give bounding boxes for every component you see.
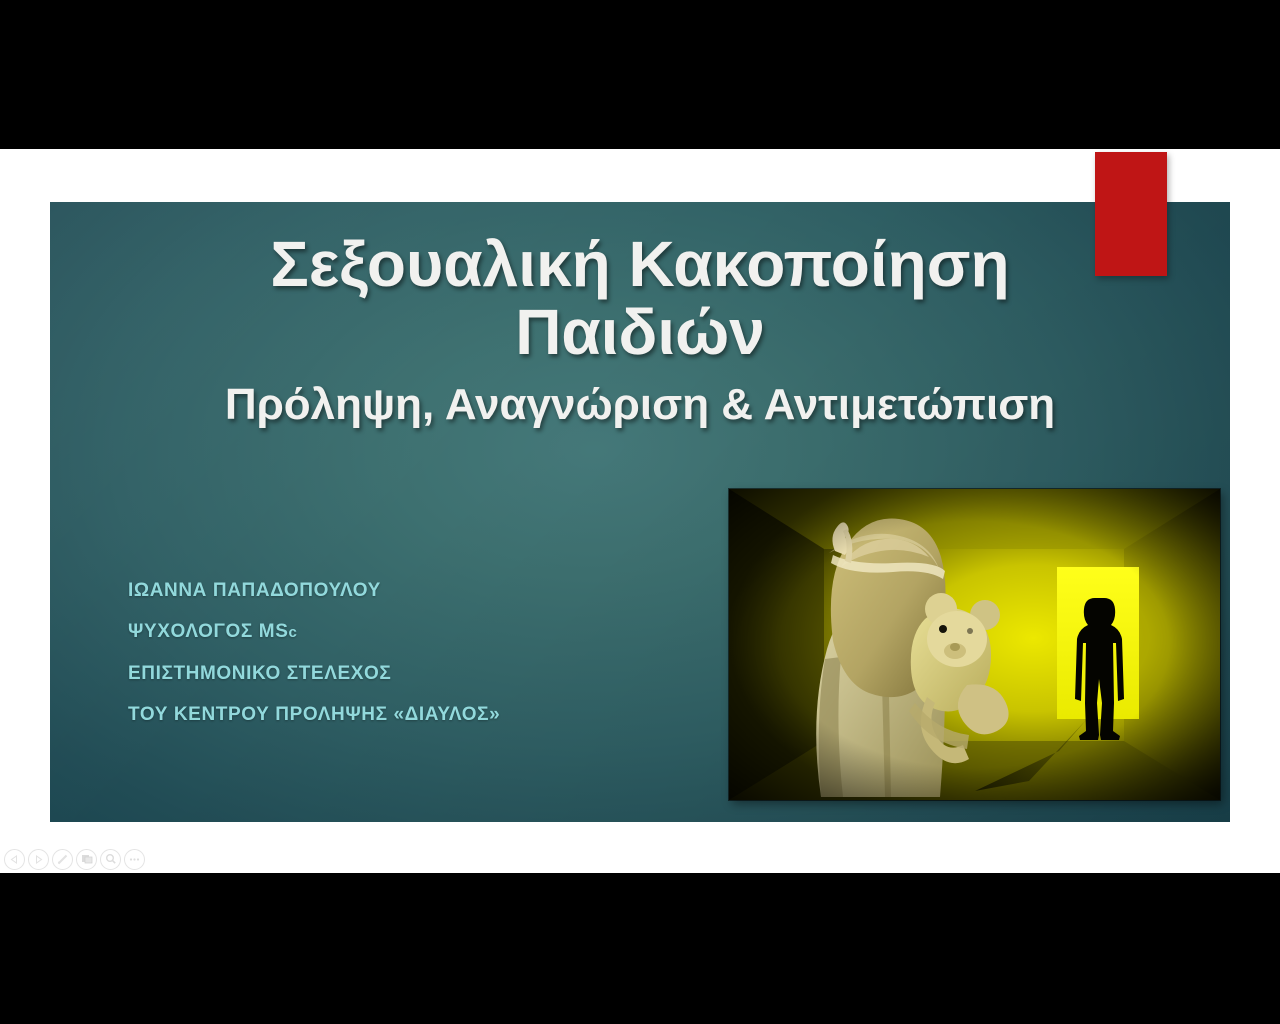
title-line-1: Σεξουαλική Κακοποίηση	[50, 230, 1230, 298]
credit-line-role: ΨΥΧΟΛΟΓΟΣ MSc	[128, 611, 688, 653]
slide-canvas[interactable]: Σεξουαλική Κακοποίηση Παιδιών Πρόληψη, Α…	[50, 202, 1230, 822]
pen-tool-button[interactable]	[52, 849, 73, 870]
letterbox-bottom	[0, 873, 1280, 1024]
slide-photo	[729, 489, 1220, 800]
credit-role-suffix: c	[289, 624, 298, 641]
next-slide-button[interactable]	[28, 849, 49, 870]
credits-block: ΙΩΑΝΝΑ ΠΑΠΑΔΟΠΟΥΛΟΥ ΨΥΧΟΛΟΓΟΣ MSc ΕΠΙΣΤΗ…	[128, 570, 688, 735]
credit-line-position: ΕΠΙΣΤΗΜΟΝΙΚΟ ΣΤΕΛΕΧΟΣ	[128, 653, 688, 694]
title-line-2: Παιδιών	[50, 298, 1230, 366]
credit-role-text: ΨΥΧΟΛΟΓΟΣ MS	[128, 621, 289, 642]
photo-illustration	[729, 489, 1220, 800]
more-options-button[interactable]	[124, 849, 145, 870]
letterbox-top	[0, 0, 1280, 149]
red-accent-block	[1095, 152, 1167, 276]
all-slides-button[interactable]	[76, 849, 97, 870]
slide-title-block: Σεξουαλική Κακοποίηση Παιδιών Πρόληψη, Α…	[50, 230, 1230, 432]
title-line-3: Πρόληψη, Αναγνώριση & Αντιμετώπιση	[50, 379, 1230, 432]
presentation-viewer: Σεξουαλική Κακοποίηση Παιδιών Πρόληψη, Α…	[0, 0, 1280, 1024]
magnifier-icon	[105, 853, 117, 865]
previous-slide-button[interactable]	[4, 849, 25, 870]
zoom-button[interactable]	[100, 849, 121, 870]
triangle-left-icon	[9, 854, 20, 865]
credit-line-name: ΙΩΑΝΝΑ ΠΑΠΑΔΟΠΟΥΛΟΥ	[128, 570, 688, 611]
pen-icon	[56, 853, 69, 866]
grid-slides-icon	[81, 853, 93, 865]
credit-line-organization: ΤΟΥ ΚΕΝΤΡΟΥ ΠΡΟΛΗΨΗΣ «ΔΙΑΥΛΟΣ»	[128, 694, 688, 735]
ellipsis-icon	[128, 857, 141, 862]
presentation-toolbar[interactable]	[4, 848, 145, 870]
triangle-right-icon	[33, 854, 44, 865]
